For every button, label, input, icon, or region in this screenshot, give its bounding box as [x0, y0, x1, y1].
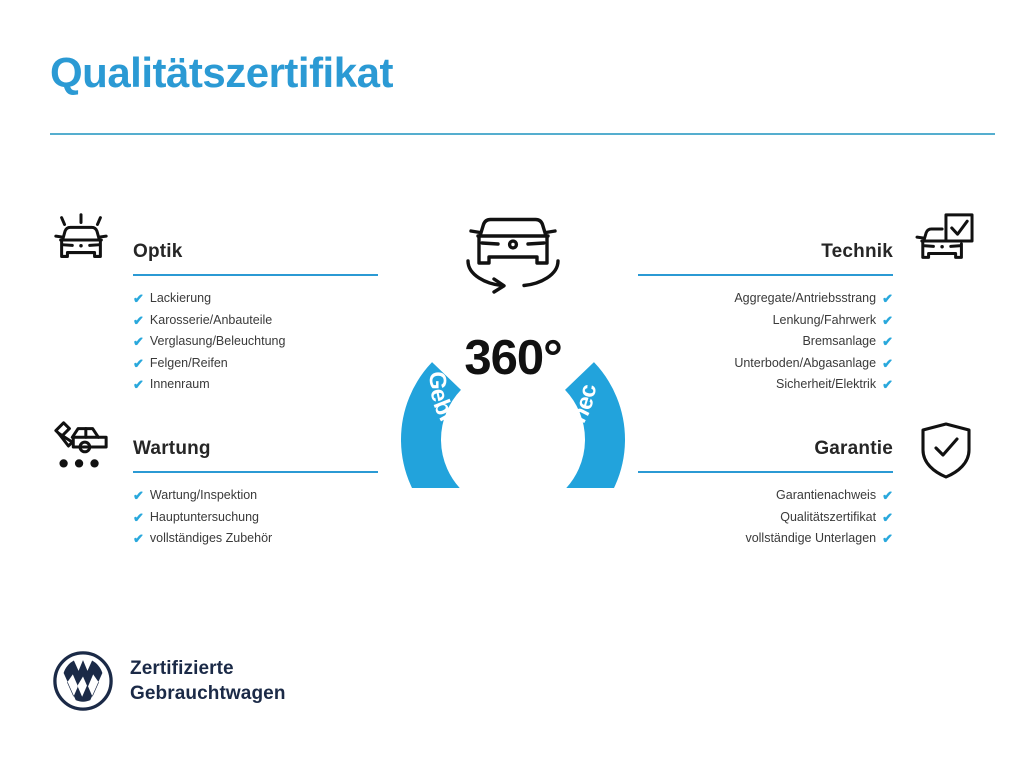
- check-icon: ✔: [133, 507, 144, 529]
- check-icon: ✔: [882, 331, 893, 353]
- list-item-label: vollständiges Zubehör: [150, 528, 272, 550]
- list-item: Aggregate/Antriebsstrang ✔: [638, 288, 893, 310]
- 360-check-badge: Gebrauchtwagen-Check 360°: [378, 196, 648, 488]
- section-title-wartung: Wartung: [133, 437, 378, 461]
- vw-logo-line2: Gebrauchtwagen: [130, 681, 286, 706]
- vw-logo-text: Zertifizierte Gebrauchtwagen: [130, 656, 286, 706]
- section-wartung: Wartung ✔ Wartung/Inspektion ✔ Hauptunte…: [133, 437, 378, 550]
- check-icon: ✔: [133, 528, 144, 550]
- list-item-label: Qualitätszertifikat: [780, 507, 876, 529]
- list-item: ✔ Innenraum: [133, 374, 378, 396]
- section-underline-garantie: [638, 471, 893, 473]
- list-item-label: Sicherheit/Elektrik: [776, 374, 876, 396]
- check-icon: ✔: [882, 288, 893, 310]
- list-item-label: Unterboden/Abgasanlage: [734, 353, 876, 375]
- section-garantie: Garantie Garantienachweis ✔ Qualitätszer…: [638, 437, 893, 550]
- checklist-wartung: ✔ Wartung/Inspektion ✔ Hauptuntersuchung…: [133, 485, 378, 550]
- section-technik: Technik Aggregate/Antriebsstrang ✔ Lenku…: [638, 240, 893, 396]
- section-underline-wartung: [133, 471, 378, 473]
- list-item: Bremsanlage ✔: [638, 331, 893, 353]
- checklist-optik: ✔ Lackierung ✔ Karosserie/Anbauteile ✔ V…: [133, 288, 378, 396]
- section-underline-optik: [133, 274, 378, 276]
- certificate-page: Qualitätszertifikat Optik ✔ Lackierung: [0, 0, 1024, 768]
- list-item: ✔ Hauptuntersuchung: [133, 507, 378, 529]
- check-icon: ✔: [882, 507, 893, 529]
- check-icon: ✔: [882, 374, 893, 396]
- list-item-label: Hauptuntersuchung: [150, 507, 259, 529]
- list-item: vollständige Unterlagen ✔: [638, 528, 893, 550]
- checklist-technik: Aggregate/Antriebsstrang ✔ Lenkung/Fahrw…: [638, 288, 893, 396]
- section-title-optik: Optik: [133, 240, 378, 264]
- car-front-shine-icon: [50, 208, 112, 270]
- check-icon: ✔: [133, 288, 144, 310]
- list-item-label: Garantienachweis: [776, 485, 876, 507]
- list-item: Sicherheit/Elektrik ✔: [638, 374, 893, 396]
- check-icon: ✔: [882, 310, 893, 332]
- check-icon: ✔: [133, 331, 144, 353]
- list-item: ✔ Verglasung/Beleuchtung: [133, 331, 378, 353]
- checklist-garantie: Garantienachweis ✔ Qualitätszertifikat ✔…: [638, 485, 893, 550]
- check-icon: ✔: [882, 485, 893, 507]
- section-optik: Optik ✔ Lackierung ✔ Karosserie/Anbautei…: [133, 240, 378, 396]
- list-item: Garantienachweis ✔: [638, 485, 893, 507]
- list-item-label: Aggregate/Antriebsstrang: [734, 288, 876, 310]
- check-icon: ✔: [133, 310, 144, 332]
- car-lift-service-icon: [50, 417, 112, 475]
- vw-logo-icon: [52, 650, 114, 712]
- list-item-label: Bremsanlage: [802, 331, 876, 353]
- list-item: Qualitätszertifikat ✔: [638, 507, 893, 529]
- badge-center-label: 360°: [378, 334, 648, 383]
- check-icon: ✔: [882, 353, 893, 375]
- section-title-garantie: Garantie: [638, 437, 893, 461]
- section-header-technik: Technik: [638, 240, 893, 276]
- section-header-optik: Optik: [133, 240, 378, 276]
- list-item-label: Innenraum: [150, 374, 210, 396]
- list-item: ✔ Wartung/Inspektion: [133, 485, 378, 507]
- check-icon: ✔: [133, 374, 144, 396]
- section-underline-technik: [638, 274, 893, 276]
- list-item-label: Karosserie/Anbauteile: [150, 310, 272, 332]
- list-item-label: Felgen/Reifen: [150, 353, 228, 375]
- shield-check-icon: [918, 420, 974, 480]
- section-header-garantie: Garantie: [638, 437, 893, 473]
- vw-certified-logo: Zertifizierte Gebrauchtwagen: [52, 650, 286, 712]
- list-item-label: Lenkung/Fahrwerk: [773, 310, 877, 332]
- list-item: ✔ Lackierung: [133, 288, 378, 310]
- section-header-wartung: Wartung: [133, 437, 378, 473]
- title-divider: [50, 133, 995, 135]
- check-icon: ✔: [133, 485, 144, 507]
- check-icon: ✔: [882, 528, 893, 550]
- list-item: ✔ Karosserie/Anbauteile: [133, 310, 378, 332]
- list-item-label: vollständige Unterlagen: [745, 528, 876, 550]
- list-item: ✔ Felgen/Reifen: [133, 353, 378, 375]
- list-item: Unterboden/Abgasanlage ✔: [638, 353, 893, 375]
- check-icon: ✔: [133, 353, 144, 375]
- vw-logo-line1: Zertifizierte: [130, 656, 286, 681]
- list-item: ✔ vollständiges Zubehör: [133, 528, 378, 550]
- car-front-checkbox-icon: [914, 212, 976, 268]
- list-item-label: Wartung/Inspektion: [150, 485, 257, 507]
- page-title: Qualitätszertifikat: [50, 52, 393, 94]
- list-item-label: Lackierung: [150, 288, 211, 310]
- section-title-technik: Technik: [638, 240, 893, 264]
- list-item-label: Verglasung/Beleuchtung: [150, 331, 286, 353]
- list-item: Lenkung/Fahrwerk ✔: [638, 310, 893, 332]
